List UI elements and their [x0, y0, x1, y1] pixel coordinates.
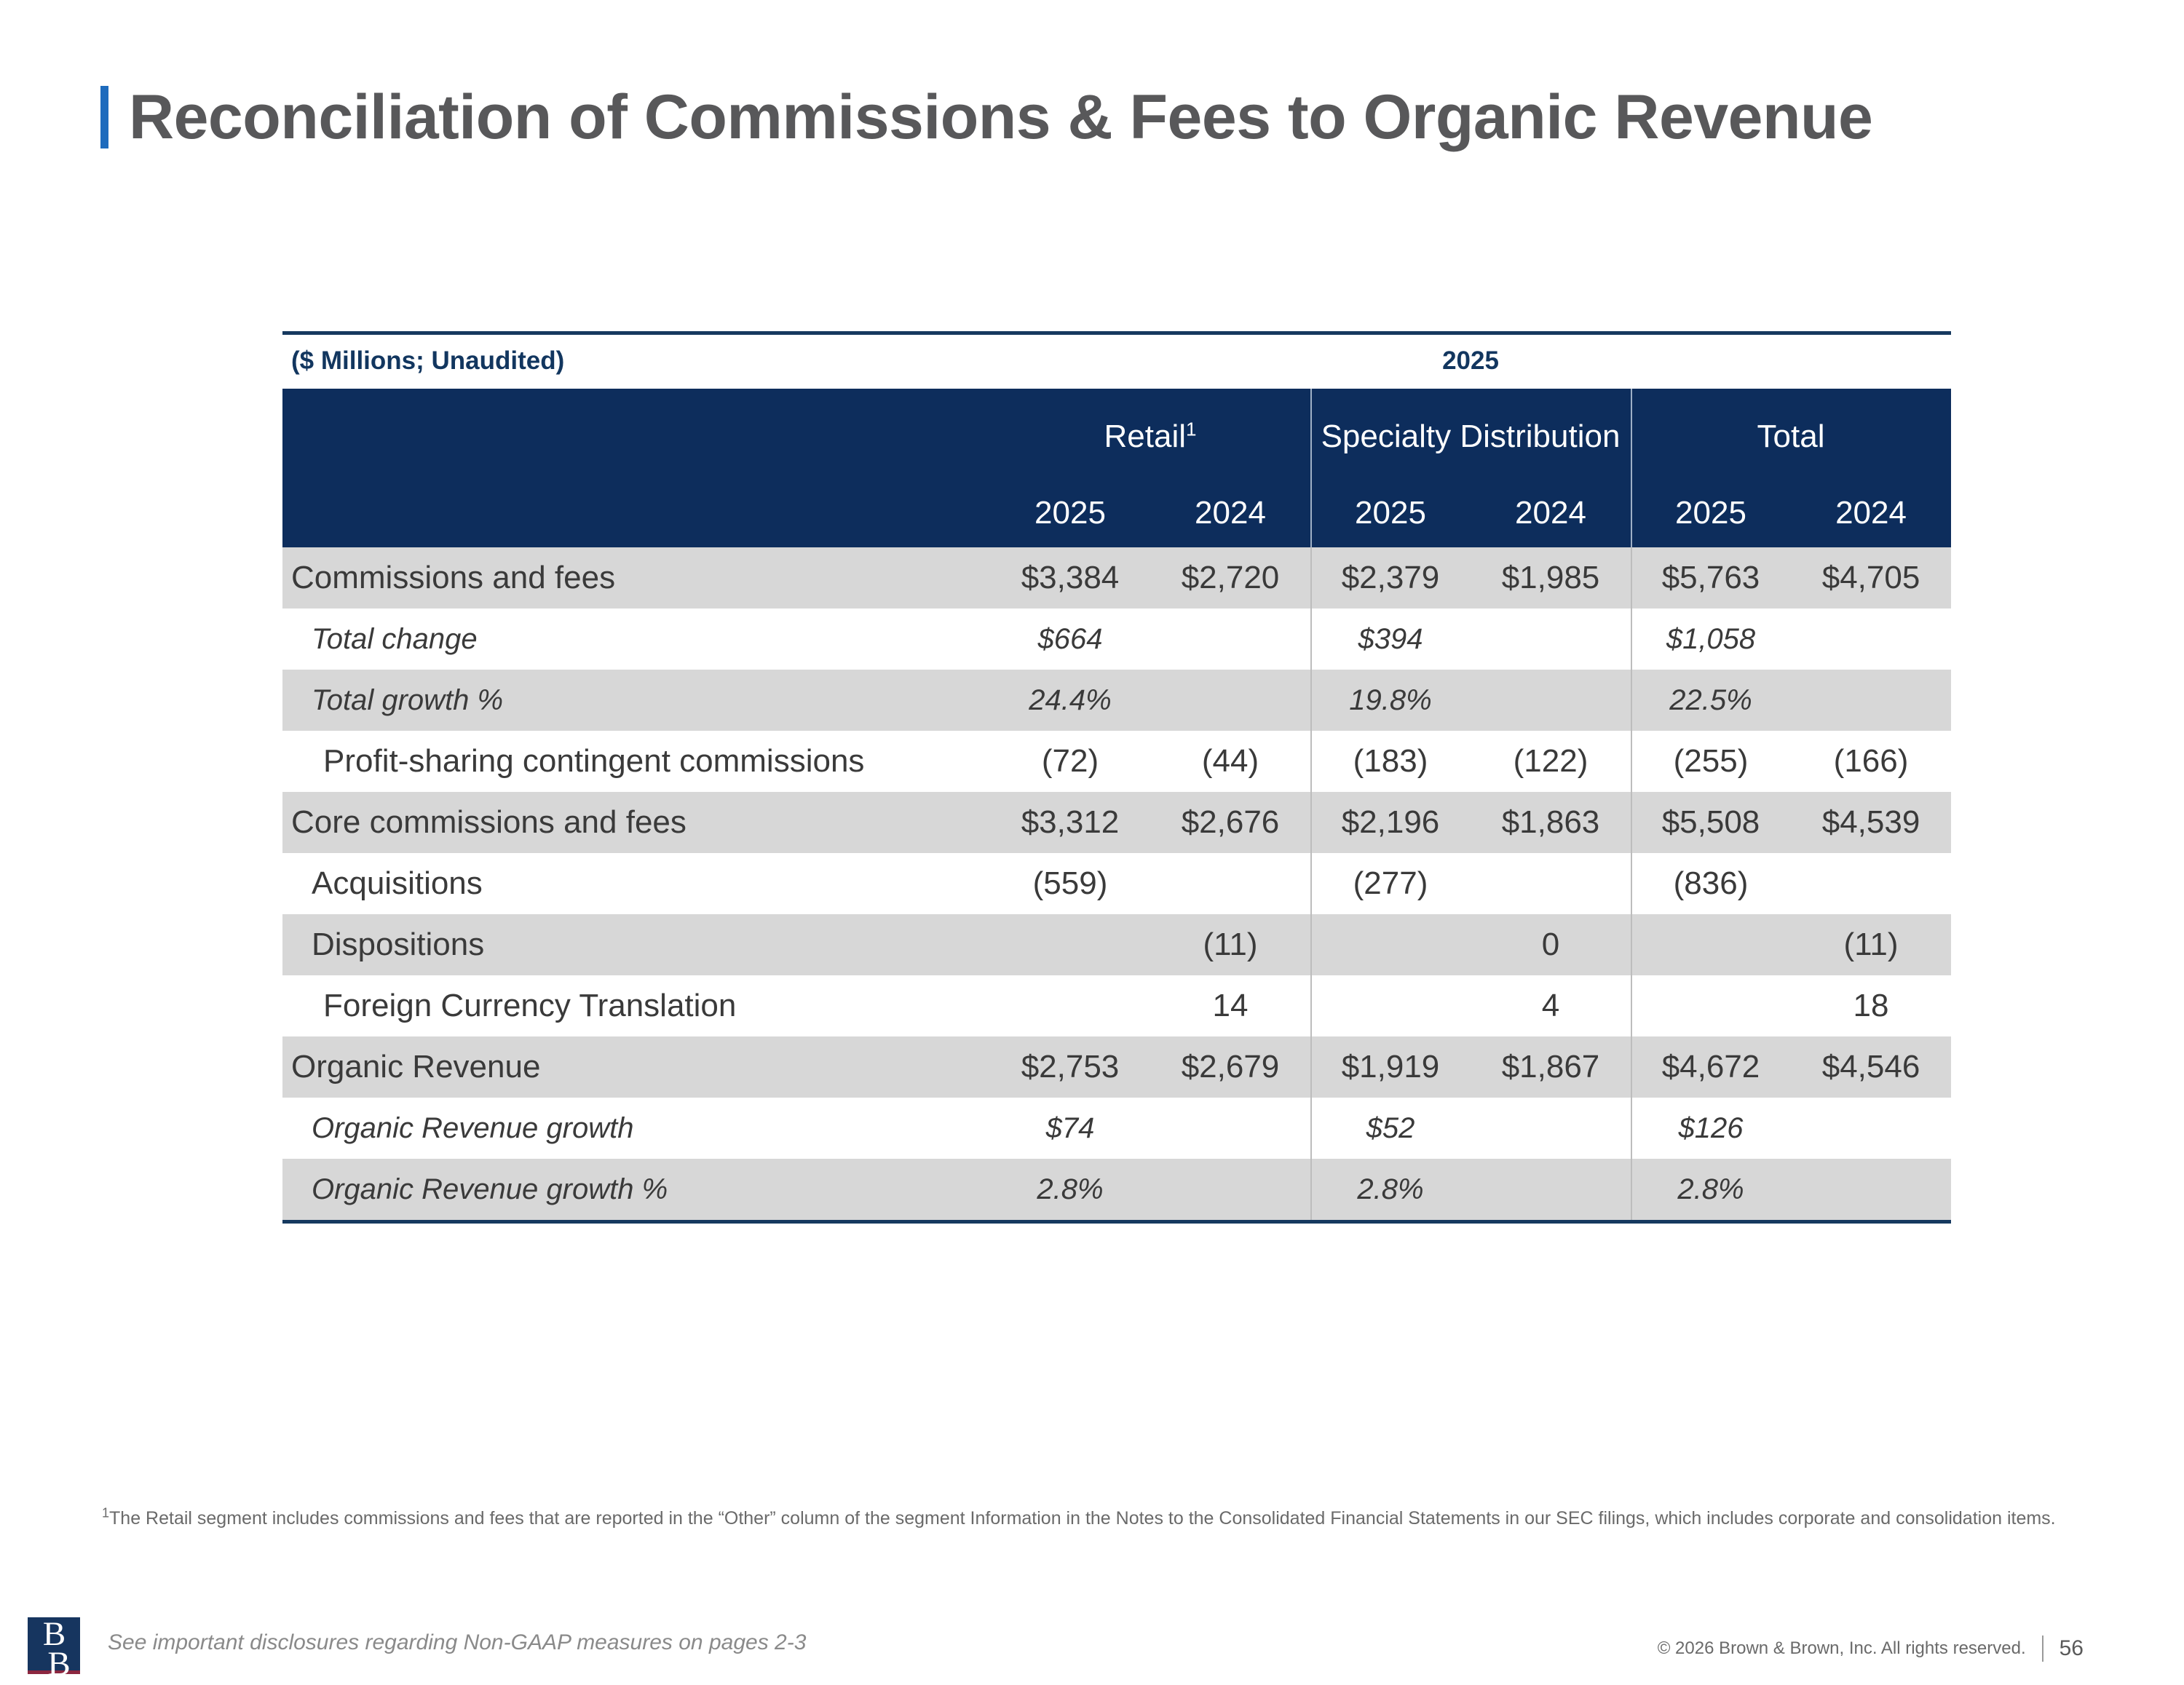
table-bottom-rule — [282, 1220, 1951, 1224]
row-value: $4,672 — [1631, 1036, 1791, 1098]
row-value: (836) — [1631, 853, 1791, 914]
row-value: $1,919 — [1310, 1036, 1471, 1098]
row-value: 2.8% — [1631, 1159, 1791, 1220]
row-value: 22.5% — [1631, 670, 1791, 731]
copyright-text: © 2026 Brown & Brown, Inc. All rights re… — [1658, 1638, 2026, 1659]
row-value: (255) — [1631, 731, 1791, 792]
row-value: 4 — [1471, 975, 1631, 1036]
row-value: $394 — [1310, 608, 1471, 670]
row-label: Dispositions — [282, 914, 990, 975]
row-value: $2,379 — [1310, 547, 1471, 608]
row-value: $4,539 — [1791, 792, 1951, 853]
row-value: 14 — [1150, 975, 1310, 1036]
row-value: (72) — [990, 731, 1150, 792]
row-value — [1791, 608, 1951, 670]
segment-header-total: Total — [1631, 389, 1951, 488]
row-value: $2,676 — [1150, 792, 1310, 853]
row-label: Profit-sharing contingent commissions — [282, 731, 990, 792]
row-value: 24.4% — [990, 670, 1150, 731]
row-value: $2,196 — [1310, 792, 1471, 853]
row-value: 18 — [1791, 975, 1951, 1036]
footnote-text: The Retail segment includes commissions … — [109, 1508, 2056, 1529]
row-value: $4,705 — [1791, 547, 1951, 608]
row-label: Core commissions and fees — [282, 792, 990, 853]
segment-label-retail: Retail — [1104, 419, 1187, 454]
row-value: $4,546 — [1791, 1036, 1951, 1098]
year-header-row: 2025 2024 2025 2024 2025 2024 — [282, 488, 1951, 547]
row-value: $1,985 — [1471, 547, 1631, 608]
reconciliation-table: ($ Millions; Unaudited) 2025 Retail1 Spe… — [282, 331, 1951, 1224]
footer-copyright-block: © 2026 Brown & Brown, Inc. All rights re… — [1658, 1636, 2084, 1662]
table-row: Profit-sharing contingent commissions(72… — [282, 731, 1951, 792]
row-value — [1150, 853, 1310, 914]
year-header-total-2025: 2025 — [1631, 488, 1791, 547]
retail-footnote-marker: 1 — [1186, 419, 1196, 440]
row-value: (122) — [1471, 731, 1631, 792]
row-value — [1150, 608, 1310, 670]
row-value: $1,867 — [1471, 1036, 1631, 1098]
row-value — [1471, 1159, 1631, 1220]
caption-year: 2025 — [990, 335, 1951, 389]
table-row: Dispositions(11)0(11) — [282, 914, 1951, 975]
row-value — [1471, 670, 1631, 731]
year-header-total-2024: 2024 — [1791, 488, 1951, 547]
title-text: Reconciliation of Commissions & Fees to … — [129, 86, 1872, 148]
row-value: $3,384 — [990, 547, 1150, 608]
row-value — [1791, 1159, 1951, 1220]
row-value — [990, 975, 1150, 1036]
title-accent-bar — [100, 86, 108, 148]
year-header-specialty-2025: 2025 — [1310, 488, 1471, 547]
table-row: Acquisitions(559)(277)(836) — [282, 853, 1951, 914]
row-value — [1791, 853, 1951, 914]
row-value: 2.8% — [990, 1159, 1150, 1220]
row-value — [1631, 914, 1791, 975]
row-value — [990, 914, 1150, 975]
units-caption: ($ Millions; Unaudited) — [282, 335, 990, 389]
row-label: Organic Revenue growth % — [282, 1159, 990, 1220]
row-value: $664 — [990, 608, 1150, 670]
year-header-retail-2025: 2025 — [990, 488, 1150, 547]
footer-divider — [2042, 1636, 2043, 1662]
footnote-marker: 1 — [102, 1506, 109, 1521]
row-label: Organic Revenue — [282, 1036, 990, 1098]
row-value: (11) — [1791, 914, 1951, 975]
year-header-blank — [282, 488, 990, 547]
table-row: Organic Revenue$2,753$2,679$1,919$1,867$… — [282, 1036, 1951, 1098]
row-value: (277) — [1310, 853, 1471, 914]
row-value: $2,720 — [1150, 547, 1310, 608]
row-value — [1150, 670, 1310, 731]
table-row: Commissions and fees$3,384$2,720$2,379$1… — [282, 547, 1951, 608]
logo-letter-bottom: B — [28, 1647, 80, 1677]
row-value: (559) — [990, 853, 1150, 914]
disclosure-text: See important disclosures regarding Non-… — [108, 1630, 806, 1655]
table-row: Organic Revenue growth %2.8%2.8%2.8% — [282, 1159, 1951, 1220]
row-value: $5,508 — [1631, 792, 1791, 853]
row-value: (166) — [1791, 731, 1951, 792]
row-label: Total change — [282, 608, 990, 670]
row-value: (183) — [1310, 731, 1471, 792]
row-value: (11) — [1150, 914, 1310, 975]
row-label: Foreign Currency Translation — [282, 975, 990, 1036]
row-value: 19.8% — [1310, 670, 1471, 731]
table-row: Foreign Currency Translation14418 — [282, 975, 1951, 1036]
row-label: Commissions and fees — [282, 547, 990, 608]
row-value: 0 — [1471, 914, 1631, 975]
row-value: $2,753 — [990, 1036, 1150, 1098]
logo-letter-top: B — [28, 1617, 80, 1647]
year-header-specialty-2024: 2024 — [1471, 488, 1631, 547]
table-caption-row: ($ Millions; Unaudited) 2025 — [282, 335, 1951, 389]
page-number: 56 — [2060, 1636, 2084, 1661]
row-value — [1150, 1098, 1310, 1159]
row-label: Total growth % — [282, 670, 990, 731]
row-value — [1791, 1098, 1951, 1159]
row-value — [1471, 1098, 1631, 1159]
row-value — [1471, 853, 1631, 914]
row-value — [1471, 608, 1631, 670]
row-value — [1791, 670, 1951, 731]
row-value: $1,863 — [1471, 792, 1631, 853]
year-header-retail-2024: 2024 — [1150, 488, 1310, 547]
row-value: $5,763 — [1631, 547, 1791, 608]
table-row: Core commissions and fees$3,312$2,676$2,… — [282, 792, 1951, 853]
row-value: $2,679 — [1150, 1036, 1310, 1098]
row-label: Organic Revenue growth — [282, 1098, 990, 1159]
row-value: $3,312 — [990, 792, 1150, 853]
segment-header-specialty-distribution: Specialty Distribution — [1310, 389, 1631, 488]
brown-and-brown-logo: B B — [28, 1617, 80, 1674]
table-row: Organic Revenue growth$74$52$126 — [282, 1098, 1951, 1159]
segment-header-retail: Retail1 — [990, 389, 1310, 488]
row-value — [1150, 1159, 1310, 1220]
row-value: $74 — [990, 1098, 1150, 1159]
table-row: Total change$664$394$1,058 — [282, 608, 1951, 670]
row-value: 2.8% — [1310, 1159, 1471, 1220]
row-value — [1310, 975, 1471, 1036]
row-value — [1310, 914, 1471, 975]
row-value: (44) — [1150, 731, 1310, 792]
row-value: $126 — [1631, 1098, 1791, 1159]
segment-header-row: Retail1 Specialty Distribution Total — [282, 389, 1951, 488]
table-row: Total growth %24.4%19.8%22.5% — [282, 670, 1951, 731]
row-value: $52 — [1310, 1098, 1471, 1159]
row-label: Acquisitions — [282, 853, 990, 914]
header-blank-cell — [282, 389, 990, 488]
footnote: 1The Retail segment includes commissions… — [102, 1505, 2068, 1533]
table-body: Commissions and fees$3,384$2,720$2,379$1… — [282, 547, 1951, 1220]
row-value: $1,058 — [1631, 608, 1791, 670]
row-value — [1631, 975, 1791, 1036]
page-title: Reconciliation of Commissions & Fees to … — [100, 86, 1872, 148]
